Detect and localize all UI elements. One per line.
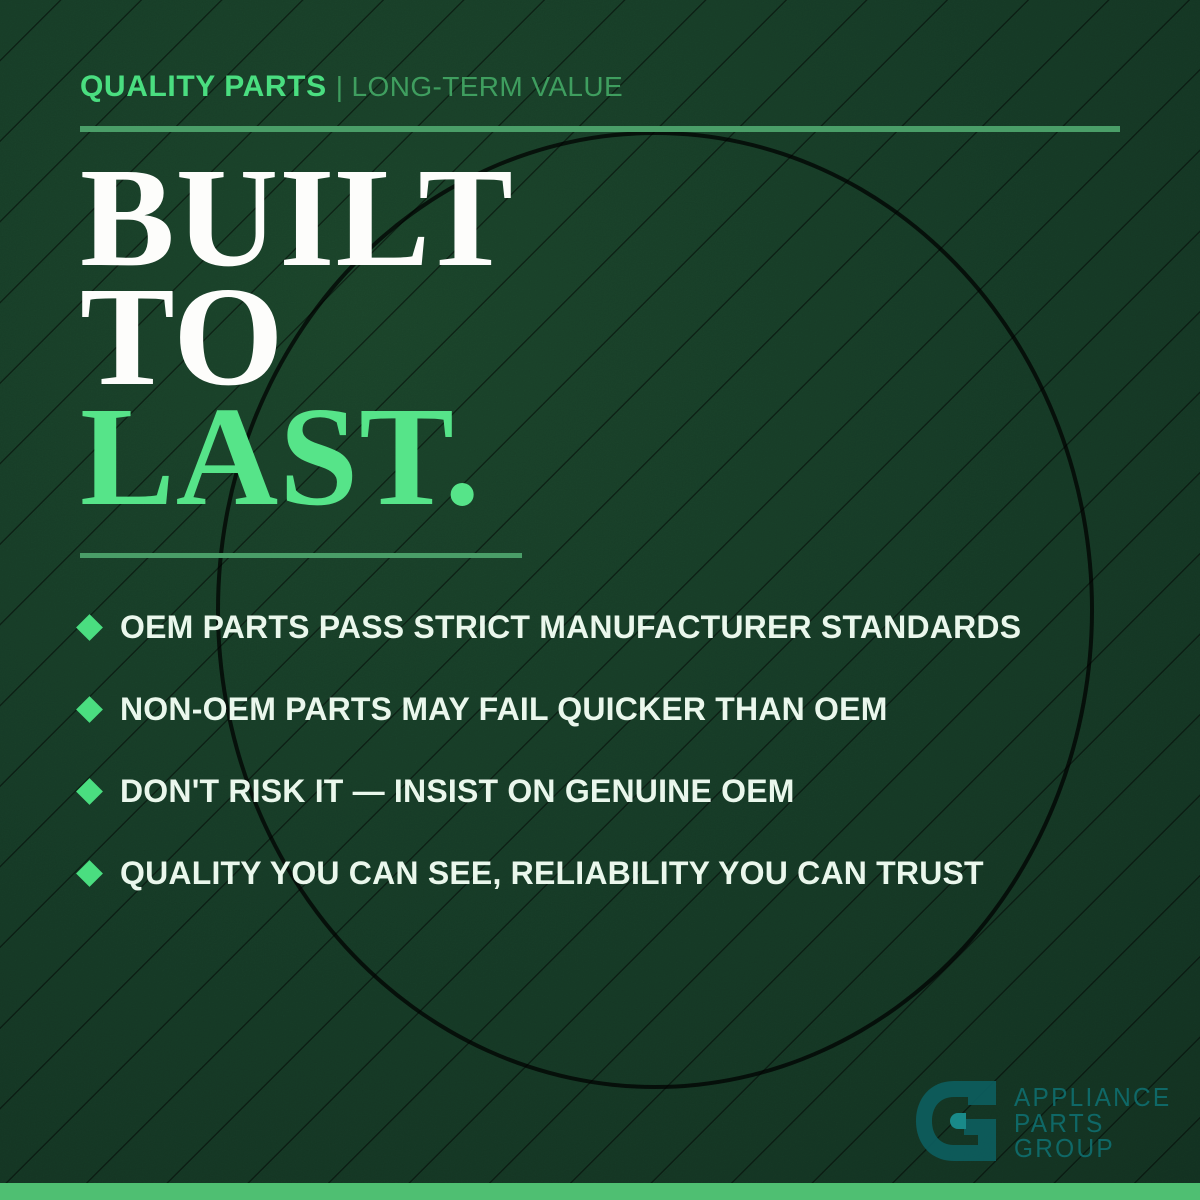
diamond-bullet-icon [76, 614, 103, 641]
list-item: NON-OEM PARTS MAY FAIL QUICKER THAN OEM [80, 668, 1160, 750]
headline-block: BUILT TO LAST. [80, 158, 780, 516]
header-divider-rule [80, 126, 1120, 132]
brand-word-3: GROUP [1014, 1136, 1171, 1161]
g-monogram-icon [908, 1075, 1004, 1172]
kicker-sub-label: | LONG-TERM VALUE [336, 71, 623, 102]
poster-canvas: QUALITY PARTS| LONG-TERM VALUE BUILT TO … [0, 0, 1200, 1200]
diamond-bullet-icon [76, 696, 103, 723]
list-item: DON'T RISK IT — INSIST ON GENUINE OEM [80, 750, 1160, 832]
diamond-bullet-icon [76, 778, 103, 805]
list-item-label: QUALITY YOU CAN SEE, RELIABILITY YOU CAN… [120, 857, 984, 889]
brand-wordmark: APPLIANCE PARTS GROUP [1014, 1085, 1182, 1161]
headline-divider-rule [80, 553, 522, 558]
list-item-label: NON-OEM PARTS MAY FAIL QUICKER THAN OEM [120, 693, 888, 725]
list-item: OEM PARTS PASS STRICT MANUFACTURER STAND… [80, 586, 1160, 668]
bullet-list: OEM PARTS PASS STRICT MANUFACTURER STAND… [80, 586, 1160, 914]
list-item-label: OEM PARTS PASS STRICT MANUFACTURER STAND… [120, 611, 1021, 643]
list-item-label: DON'T RISK IT — INSIST ON GENUINE OEM [120, 775, 795, 807]
kicker-main-label: QUALITY PARTS [80, 70, 327, 103]
diamond-bullet-icon [76, 860, 103, 887]
kicker-line: QUALITY PARTS| LONG-TERM VALUE [80, 72, 623, 102]
brand-logo: APPLIANCE PARTS GROUP [908, 1075, 1182, 1172]
list-item: QUALITY YOU CAN SEE, RELIABILITY YOU CAN… [80, 832, 1160, 914]
headline-line-3: LAST. [80, 397, 780, 516]
bottom-accent-bar [0, 1183, 1200, 1200]
